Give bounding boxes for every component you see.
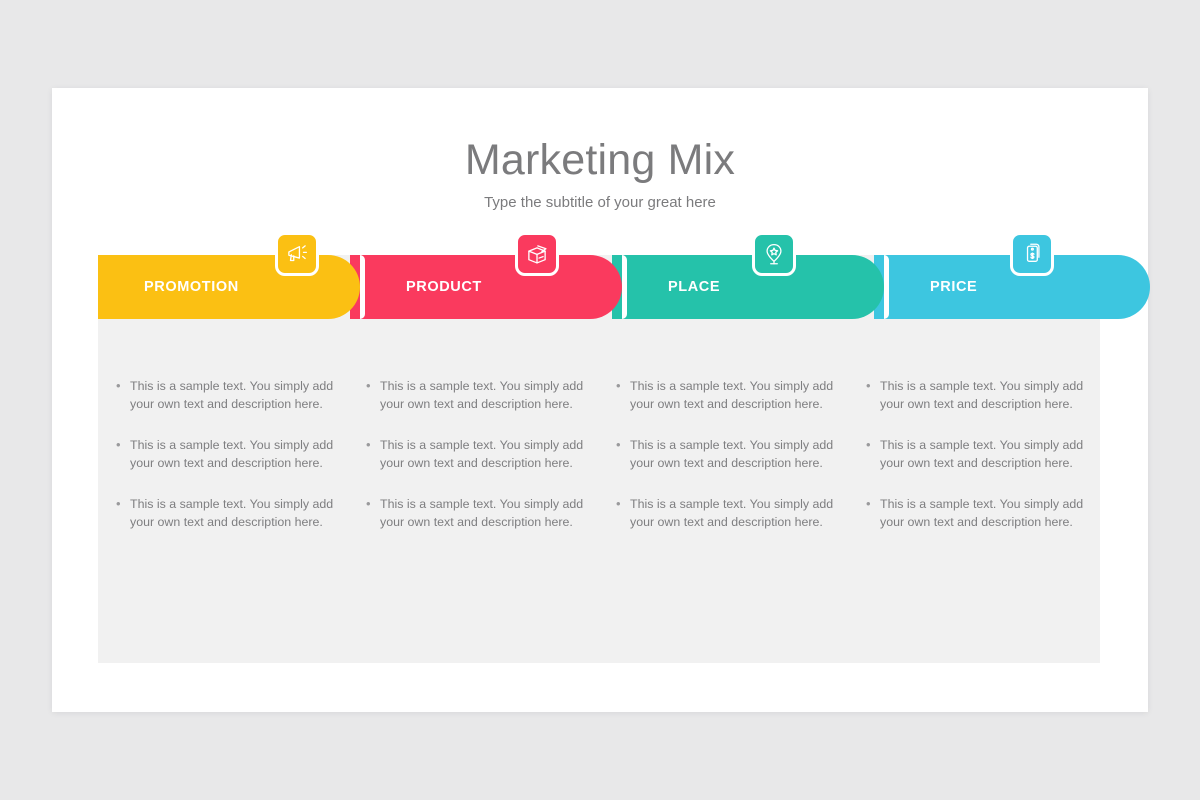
list-item-text: This is a sample text. You simply add yo… xyxy=(880,377,1090,414)
ribbon-label-place: PLACE xyxy=(668,279,720,295)
page-title: Marketing Mix xyxy=(52,136,1148,185)
list-item: • This is a sample text. You simply add … xyxy=(616,495,840,532)
list-item: • This is a sample text. You simply add … xyxy=(866,436,1090,473)
list-item: • This is a sample text. You simply add … xyxy=(866,377,1090,414)
bullet-marker: • xyxy=(116,436,130,473)
list-item: • This is a sample text. You simply add … xyxy=(616,436,840,473)
list-item-text: This is a sample text. You simply add yo… xyxy=(380,377,590,414)
list-item-text: This is a sample text. You simply add yo… xyxy=(630,377,840,414)
ribbon-product[interactable]: PRODUCT xyxy=(350,255,622,319)
list-item-text: This is a sample text. You simply add yo… xyxy=(630,495,840,532)
list-item: • This is a sample text. You simply add … xyxy=(366,495,590,532)
list-item: • This is a sample text. You simply add … xyxy=(866,495,1090,532)
list-item: • This is a sample text. You simply add … xyxy=(116,495,340,532)
bullet-marker: • xyxy=(866,377,880,414)
bullet-marker: • xyxy=(616,436,630,473)
ribbon-promotion[interactable]: PROMOTION xyxy=(98,255,360,319)
bullet-marker: • xyxy=(866,436,880,473)
list-item: • This is a sample text. You simply add … xyxy=(366,436,590,473)
list-item: • This is a sample text. You simply add … xyxy=(366,377,590,414)
slide-stage: Marketing Mix Type the subtitle of your … xyxy=(0,0,1200,800)
ribbon-place[interactable]: PLACE xyxy=(612,255,884,319)
bullet-marker: • xyxy=(116,495,130,532)
bullet-marker: • xyxy=(366,377,380,414)
ribbon-label-price: PRICE xyxy=(930,279,977,295)
open-box-icon xyxy=(524,241,550,267)
column-promotion: • This is a sample text. You simply add … xyxy=(98,377,348,553)
list-item-text: This is a sample text. You simply add yo… xyxy=(630,436,840,473)
presentation-slide: Marketing Mix Type the subtitle of your … xyxy=(52,88,1148,712)
bullet-marker: • xyxy=(366,495,380,532)
page-subtitle: Type the subtitle of your great here xyxy=(52,194,1148,211)
bullet-marker: • xyxy=(366,436,380,473)
list-item-text: This is a sample text. You simply add yo… xyxy=(880,436,1090,473)
list-item-text: This is a sample text. You simply add yo… xyxy=(380,436,590,473)
list-item-text: This is a sample text. You simply add yo… xyxy=(130,436,340,473)
list-item: • This is a sample text. You simply add … xyxy=(116,377,340,414)
ribbon-label-promotion: PROMOTION xyxy=(144,279,239,295)
bullet-marker: • xyxy=(616,495,630,532)
bullet-marker: • xyxy=(866,495,880,532)
ribbon-label-product: PRODUCT xyxy=(406,279,482,295)
bullet-marker: • xyxy=(616,377,630,414)
price-tag-dollar-icon xyxy=(1019,241,1045,267)
list-item-text: This is a sample text. You simply add yo… xyxy=(130,495,340,532)
column-place: • This is a sample text. You simply add … xyxy=(598,377,848,553)
megaphone-icon xyxy=(284,241,310,267)
list-item-text: This is a sample text. You simply add yo… xyxy=(380,495,590,532)
bullet-columns: • This is a sample text. You simply add … xyxy=(98,377,1100,553)
column-price: • This is a sample text. You simply add … xyxy=(848,377,1098,553)
list-item: • This is a sample text. You simply add … xyxy=(616,377,840,414)
map-pin-star-icon xyxy=(761,241,787,267)
list-item: • This is a sample text. You simply add … xyxy=(116,436,340,473)
bullet-marker: • xyxy=(116,377,130,414)
list-item-text: This is a sample text. You simply add yo… xyxy=(130,377,340,414)
list-item-text: This is a sample text. You simply add yo… xyxy=(880,495,1090,532)
ribbon-row: PROMOTION PRODUCT PLACE PRICE xyxy=(98,255,1110,319)
badge-place[interactable] xyxy=(752,232,796,276)
badge-price[interactable] xyxy=(1010,232,1054,276)
badge-product[interactable] xyxy=(515,232,559,276)
badge-promotion[interactable] xyxy=(275,232,319,276)
column-product: • This is a sample text. You simply add … xyxy=(348,377,598,553)
